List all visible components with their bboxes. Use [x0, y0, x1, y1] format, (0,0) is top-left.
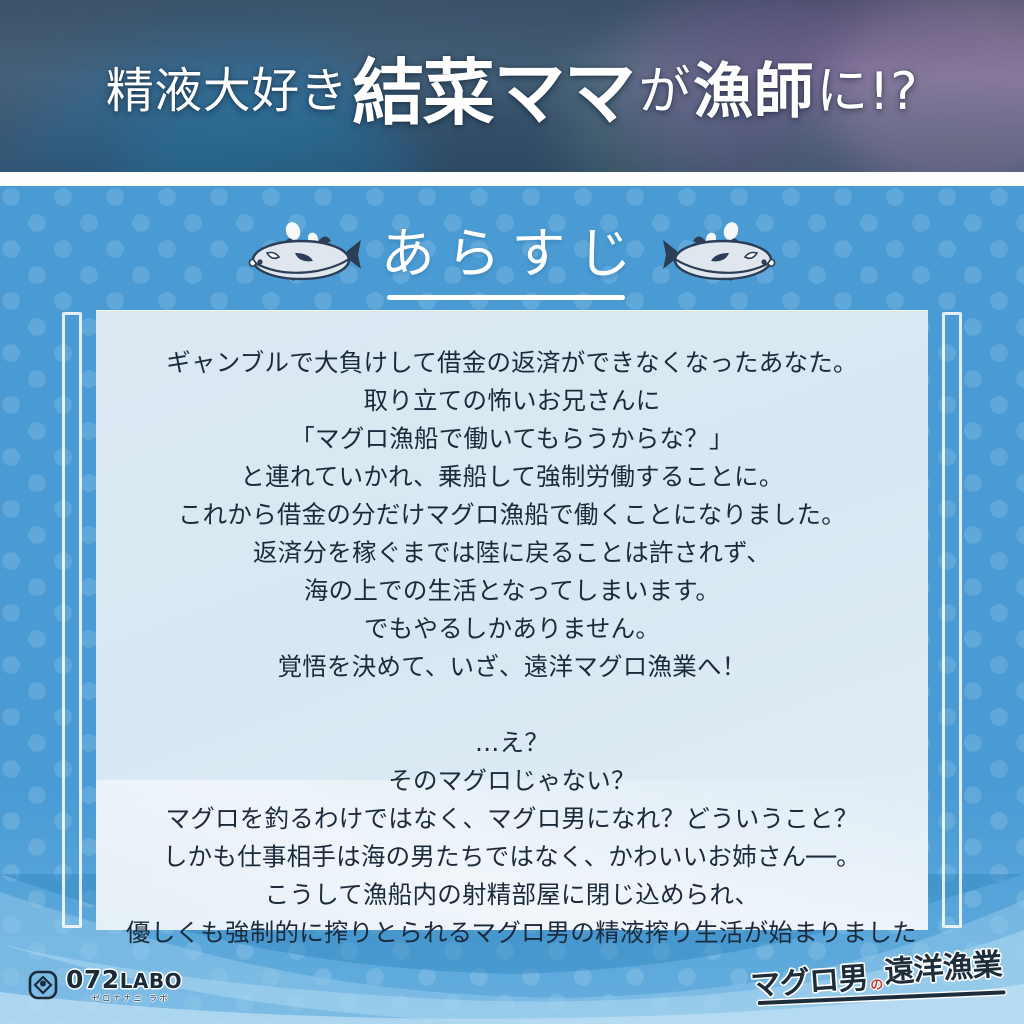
tuna-fish-icon-left	[243, 215, 363, 295]
brand-number: 072	[66, 965, 120, 994]
title-segment-4: 漁師	[691, 43, 816, 130]
decorative-bracket-right	[942, 312, 962, 928]
section-heading-label-wrap: あらすじ	[381, 209, 643, 302]
synopsis-line: 返済分を稼ぐまでは陸に戻ることは許されず、	[126, 534, 898, 572]
synopsis-line: でもやるしかありません。	[126, 610, 898, 648]
synopsis-line: マグロを釣るわけではなく、マグロ男になれ？どういうこと？	[126, 800, 898, 838]
diamond-square-logo-icon	[28, 970, 58, 1000]
tuna-fish-icon-right	[661, 215, 781, 295]
synopsis-line: と連れていかれ、乗船して強制労働することに。	[126, 458, 898, 496]
brand-logo[interactable]: 072LABO ゼロナナニ ラボ	[28, 962, 182, 1008]
brand-ruby: ゼロナナニ ラボ	[92, 993, 170, 1004]
brand-wordmark: 072LABO ゼロナナニ ラボ	[66, 967, 182, 1004]
section-heading: あらすじ	[0, 205, 1024, 305]
page-title: 精液大好き 結菜ママ が 漁師 に!?	[0, 0, 1024, 172]
synopsis-line: 優しくも強制的に搾りとられるマグロ男の精液搾り生活が始まりました	[126, 914, 898, 952]
synopsis-text: ギャンブルで大負けして借金の返済ができなくなったあなた。 取り立ての怖いお兄さん…	[126, 344, 898, 952]
synopsis-card: ギャンブルで大負けして借金の返済ができなくなったあなた。 取り立ての怖いお兄さん…	[96, 310, 928, 930]
decorative-bracket-left	[62, 312, 82, 928]
synopsis-line: …え？	[126, 724, 898, 762]
section-heading-underline	[387, 295, 625, 300]
paragraph-spacer	[126, 686, 898, 724]
title-logo-particle: の	[870, 974, 884, 994]
title-segment-1: 精液大好き	[106, 51, 348, 121]
synopsis-line: そのマグロじゃない？	[126, 762, 898, 800]
title-logo-part2: 遠洋漁業	[883, 939, 1003, 991]
title-segment-2: 結菜ママ	[348, 34, 638, 139]
synopsis-line: しかも仕事相手は海の男たちではなく、かわいいお姉さん──。	[126, 838, 898, 876]
synopsis-line: 海の上での生活となってしまいます。	[126, 572, 898, 610]
title-segment-5: に!?	[816, 49, 918, 124]
brand-name: LABO	[120, 969, 182, 993]
section-heading-label: あらすじ	[381, 209, 643, 288]
synopsis-line: 取り立ての怖いお兄さんに	[126, 382, 898, 420]
brand-word: 072LABO	[66, 967, 182, 994]
synopsis-line: これから借金の分だけマグロ漁船で働くことになりました。	[126, 496, 898, 534]
synopsis-line: こうして漁船内の射精部屋に閉じ込められ、	[126, 876, 898, 914]
synopsis-line: 「マグロ漁船で働いてもらうからな？」	[126, 420, 898, 458]
header-divider	[0, 172, 1024, 186]
synopsis-line: ギャンブルで大負けして借金の返済ができなくなったあなた。	[126, 344, 898, 382]
synopsis-line: 覚悟を決めて、いざ、遠洋マグロ漁業へ！	[126, 648, 898, 686]
title-segment-3: が	[638, 49, 691, 124]
